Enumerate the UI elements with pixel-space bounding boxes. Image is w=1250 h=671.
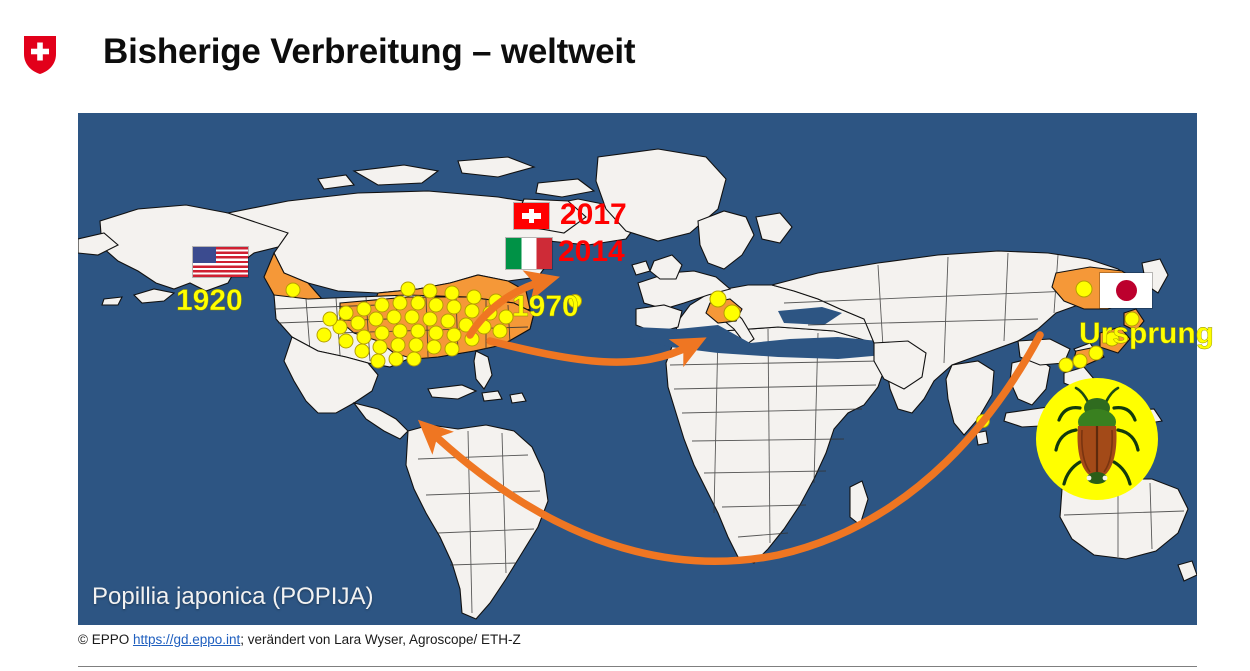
source-link[interactable]: https://gd.eppo.int xyxy=(133,632,240,647)
italy-marker xyxy=(506,238,552,269)
slide-header: Bisherige Verbreitung – weltweit xyxy=(0,0,1250,100)
world-distribution-map: .land { fill:#f4f2ef; stroke:#111111; st… xyxy=(78,113,1197,625)
species-caption: Popillia japonica (POPIJA) xyxy=(92,583,373,611)
page-title: Bisherige Verbreitung – weltweit xyxy=(103,32,635,72)
japan-origin-label: Ursprung xyxy=(1079,317,1214,351)
switzerland-year-label: 2017 xyxy=(560,198,627,232)
world-map-graphic: .land { fill:#f4f2ef; stroke:#111111; st… xyxy=(78,113,1197,625)
azores-year-label: 1970 xyxy=(512,290,579,324)
us-flag-icon xyxy=(193,247,248,277)
copyright-text: © EPPO xyxy=(78,632,133,647)
footer-divider xyxy=(78,666,1197,667)
japan-origin-marker xyxy=(1100,273,1152,308)
switzerland-marker xyxy=(514,203,549,229)
source-caption: © EPPO https://gd.eppo.int; verändert vo… xyxy=(78,632,521,647)
japan-flag-icon xyxy=(1100,273,1152,308)
switzerland-flag-icon xyxy=(514,203,549,229)
source-suffix: ; verändert von Lara Wyser, Agroscope/ E… xyxy=(240,632,521,647)
usa-year-label: 1920 xyxy=(176,284,243,318)
swiss-coat-of-arms-icon xyxy=(24,36,56,74)
italy-year-label: 2014 xyxy=(558,235,625,269)
japanese-beetle-photo xyxy=(1036,378,1158,500)
italy-flag-icon xyxy=(506,238,552,269)
usa-origin-marker xyxy=(193,247,248,277)
